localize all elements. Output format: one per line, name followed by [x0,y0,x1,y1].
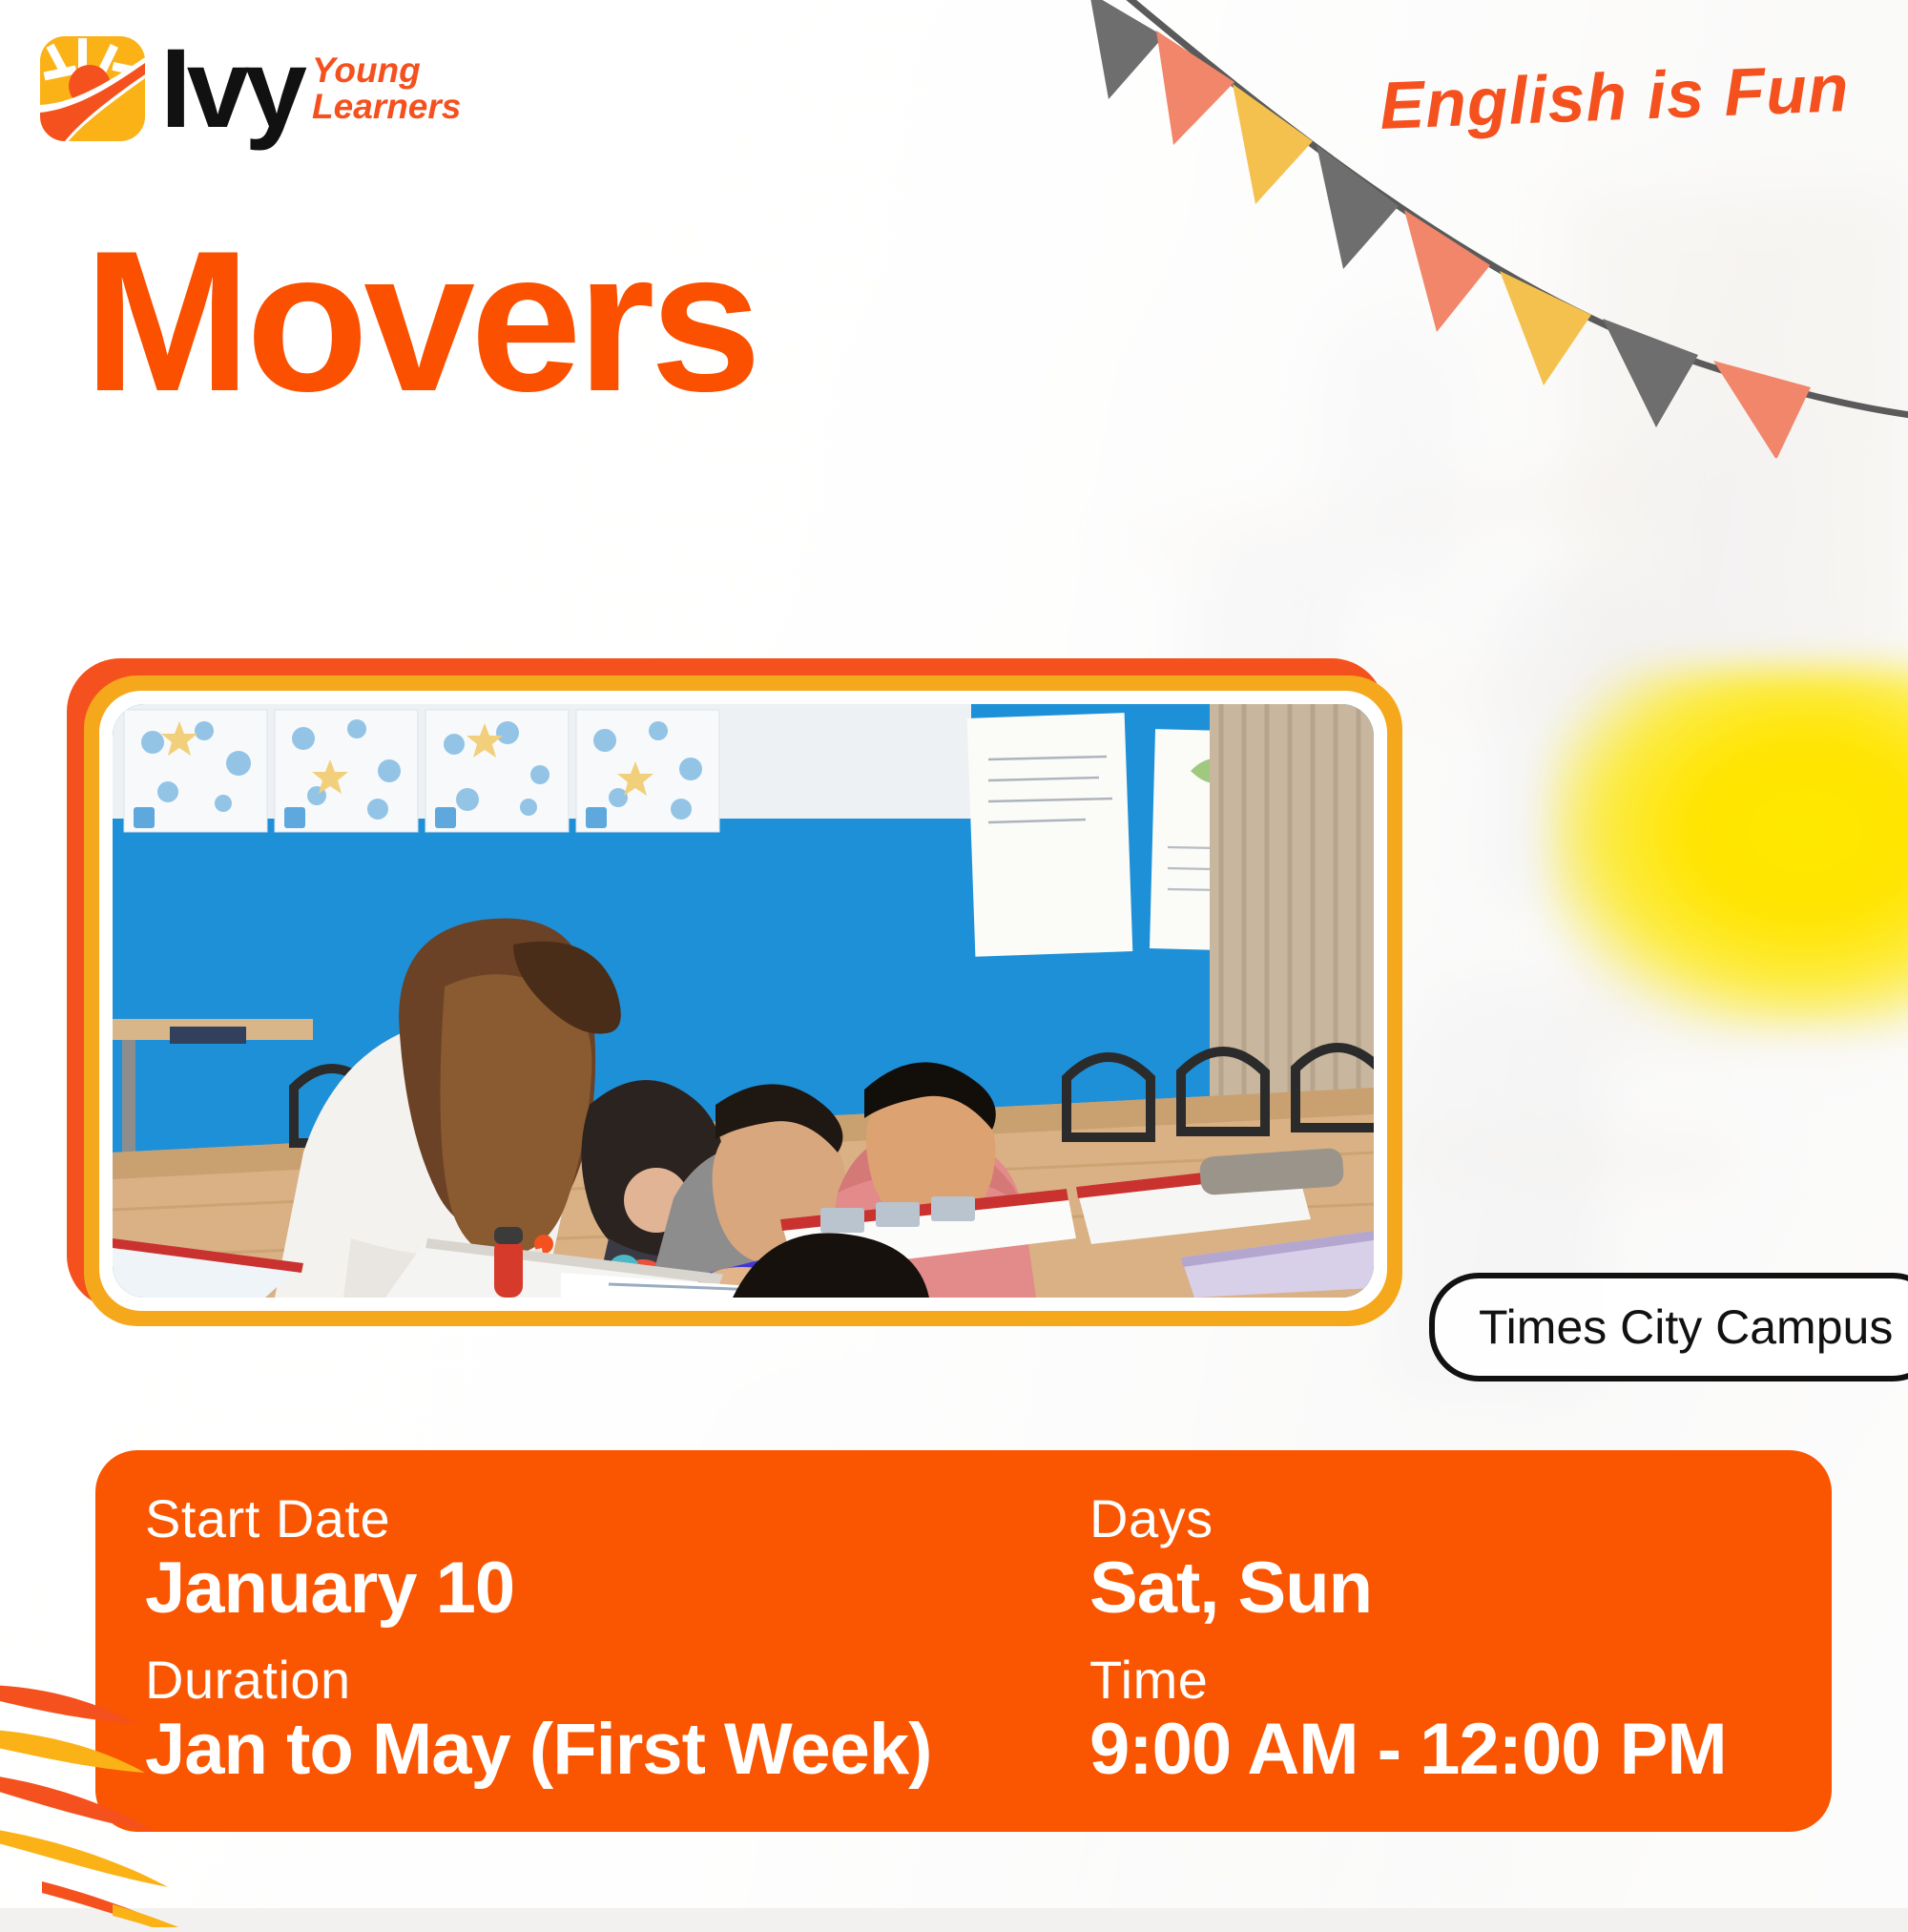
page-title: Movers [84,221,757,422]
info-block-start-date: Start Date January 10 [145,1490,1089,1629]
bunting-flag-yellow [1500,271,1591,385]
brand-subtitle-line1: Young [312,52,461,89]
info-value-time: 9:00 AM - 12:00 PM [1089,1711,1832,1789]
brand-subtitle-line2: Learners [312,89,461,125]
bunting-flag-gray [1603,319,1698,427]
info-label-start-date: Start Date [145,1490,1089,1548]
brand-logo: Ivy Young Learners [40,36,461,141]
info-label-days: Days [1089,1490,1832,1548]
course-info-grid: Start Date January 10 Days Sat, Sun Dura… [145,1490,1832,1789]
brand-name: Ivy [160,43,302,135]
info-value-start-date: January 10 [145,1549,1089,1628]
info-label-time: Time [1089,1652,1832,1709]
classroom-photo [113,704,1374,1298]
campus-badge[interactable]: Times City Campus [1429,1273,1908,1381]
brand-subtitle: Young Learners [312,52,461,124]
corner-rays-decoration [0,1641,296,1927]
bunting-flag-gray [1317,145,1399,269]
info-block-days: Days Sat, Sun [1089,1490,1832,1629]
bunting-flag-salmon [1713,361,1811,458]
bunting-flag-salmon [1156,31,1234,145]
classroom-photo-frame [67,658,1402,1326]
course-info-panel: Start Date January 10 Days Sat, Sun Dura… [95,1450,1832,1832]
info-value-days: Sat, Sun [1089,1549,1832,1628]
sunrise-square-icon [40,36,145,141]
bunting-flag-salmon [1404,210,1490,332]
info-block-time: Time 9:00 AM - 12:00 PM [1089,1652,1832,1790]
background-yellow-highlighter [1545,668,1908,1030]
bunting-flag-yellow [1233,84,1313,204]
